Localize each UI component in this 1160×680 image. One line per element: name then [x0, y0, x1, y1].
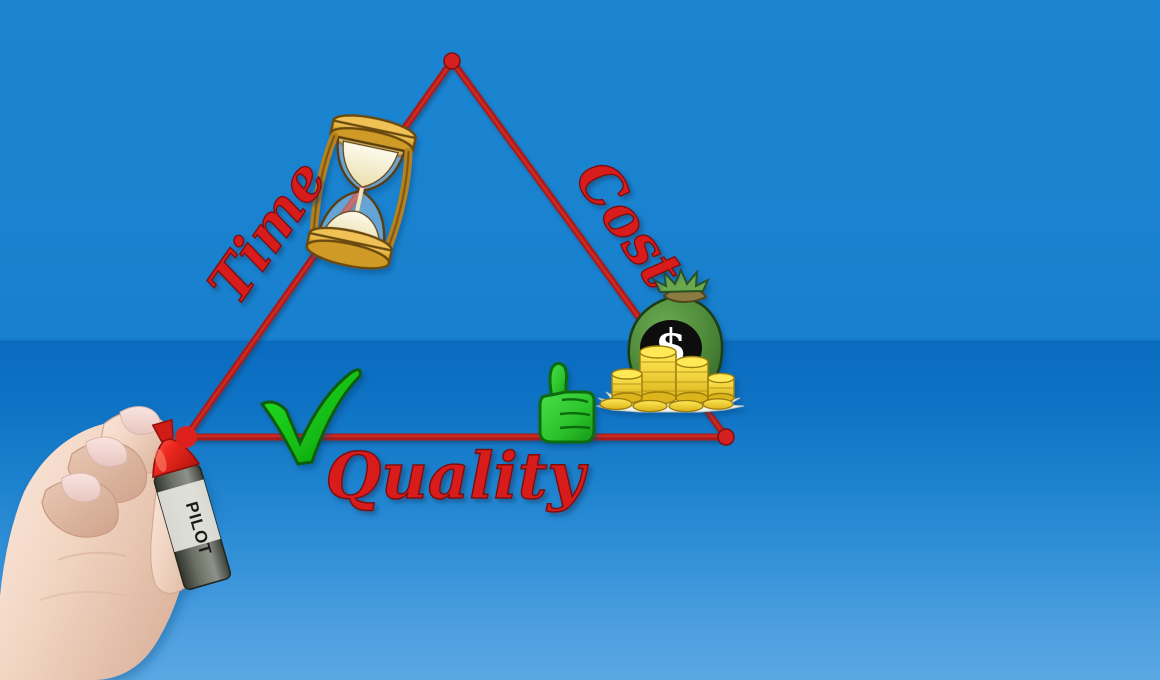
label-cost-text: Cost — [562, 148, 696, 300]
thumbs-up-icon — [540, 363, 594, 442]
label-quality: Quality — [325, 439, 588, 514]
marker-ink-blob — [175, 426, 197, 448]
hand-holding-marker: PILOT — [0, 406, 232, 680]
scene-vector-layer: $ — [0, 0, 1160, 680]
label-quality-text: Quality — [325, 439, 588, 514]
vertex-dot-bottom-right — [718, 429, 734, 445]
label-cost: Cost — [562, 148, 696, 300]
vertex-dot-apex — [444, 53, 460, 69]
project-triangle-illustration: $ — [0, 0, 1160, 680]
